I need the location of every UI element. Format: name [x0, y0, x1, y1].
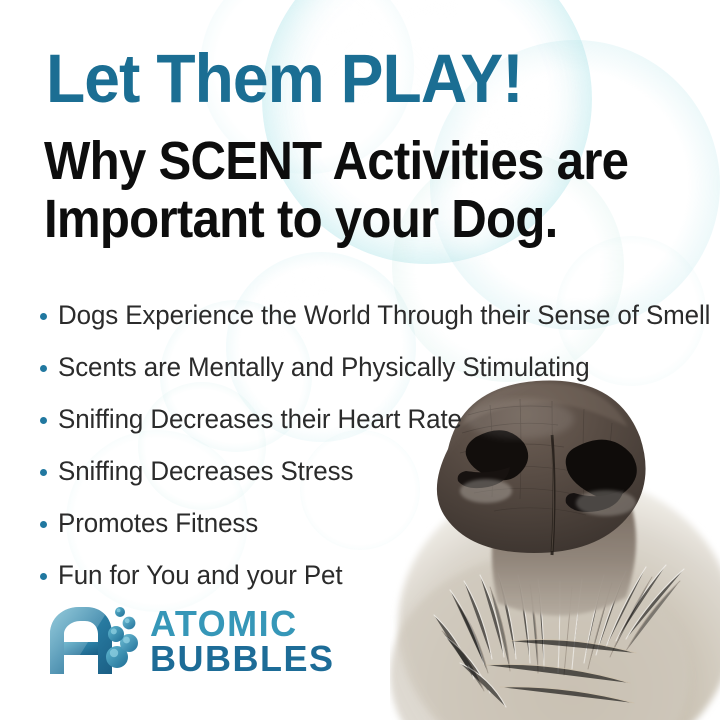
list-item-label: Scents are Mentally and Physically Stimu… — [58, 352, 590, 383]
list-item: Dogs Experience the World Through their … — [40, 289, 720, 341]
list-item-label: Dogs Experience the World Through their … — [58, 300, 710, 331]
list-item: Sniffing Decreases Stress — [40, 445, 720, 497]
bullet-dot-icon — [40, 313, 47, 320]
brand-wordmark: ATOMIC BUBBLES — [150, 607, 335, 676]
bullet-dot-icon — [40, 469, 47, 476]
list-item-label: Sniffing Decreases their Heart Rate — [58, 404, 462, 435]
list-item-label: Sniffing Decreases Stress — [58, 456, 353, 487]
bullet-dot-icon — [40, 521, 47, 528]
page-title: Let Them PLAY! — [46, 44, 523, 113]
list-item: Fun for You and your Pet — [40, 549, 720, 601]
poster-canvas: Let Them PLAY! Why SCENT Activities are … — [0, 0, 720, 720]
bullet-dot-icon — [40, 573, 47, 580]
brand-name-atomic: ATOMIC — [150, 607, 335, 642]
brand-logo: ATOMIC BUBBLES — [44, 604, 335, 680]
bullet-dot-icon — [40, 417, 47, 424]
list-item: Sniffing Decreases their Heart Rate — [40, 393, 720, 445]
list-item: Promotes Fitness — [40, 497, 720, 549]
bullet-dot-icon — [40, 365, 47, 372]
subtitle-line-2: Important to your Dog. — [44, 191, 628, 249]
brand-name-bubbles: BUBBLES — [150, 642, 335, 677]
list-item: Scents are Mentally and Physically Stimu… — [40, 341, 720, 393]
subtitle-line-1: Why SCENT Activities are — [44, 133, 628, 191]
atomic-bubbles-mark-icon — [44, 604, 140, 680]
page-subtitle: Why SCENT Activities are Important to yo… — [44, 133, 628, 249]
benefits-list: Dogs Experience the World Through their … — [40, 289, 720, 601]
list-item-label: Fun for You and your Pet — [58, 560, 342, 591]
list-item-label: Promotes Fitness — [58, 508, 258, 539]
